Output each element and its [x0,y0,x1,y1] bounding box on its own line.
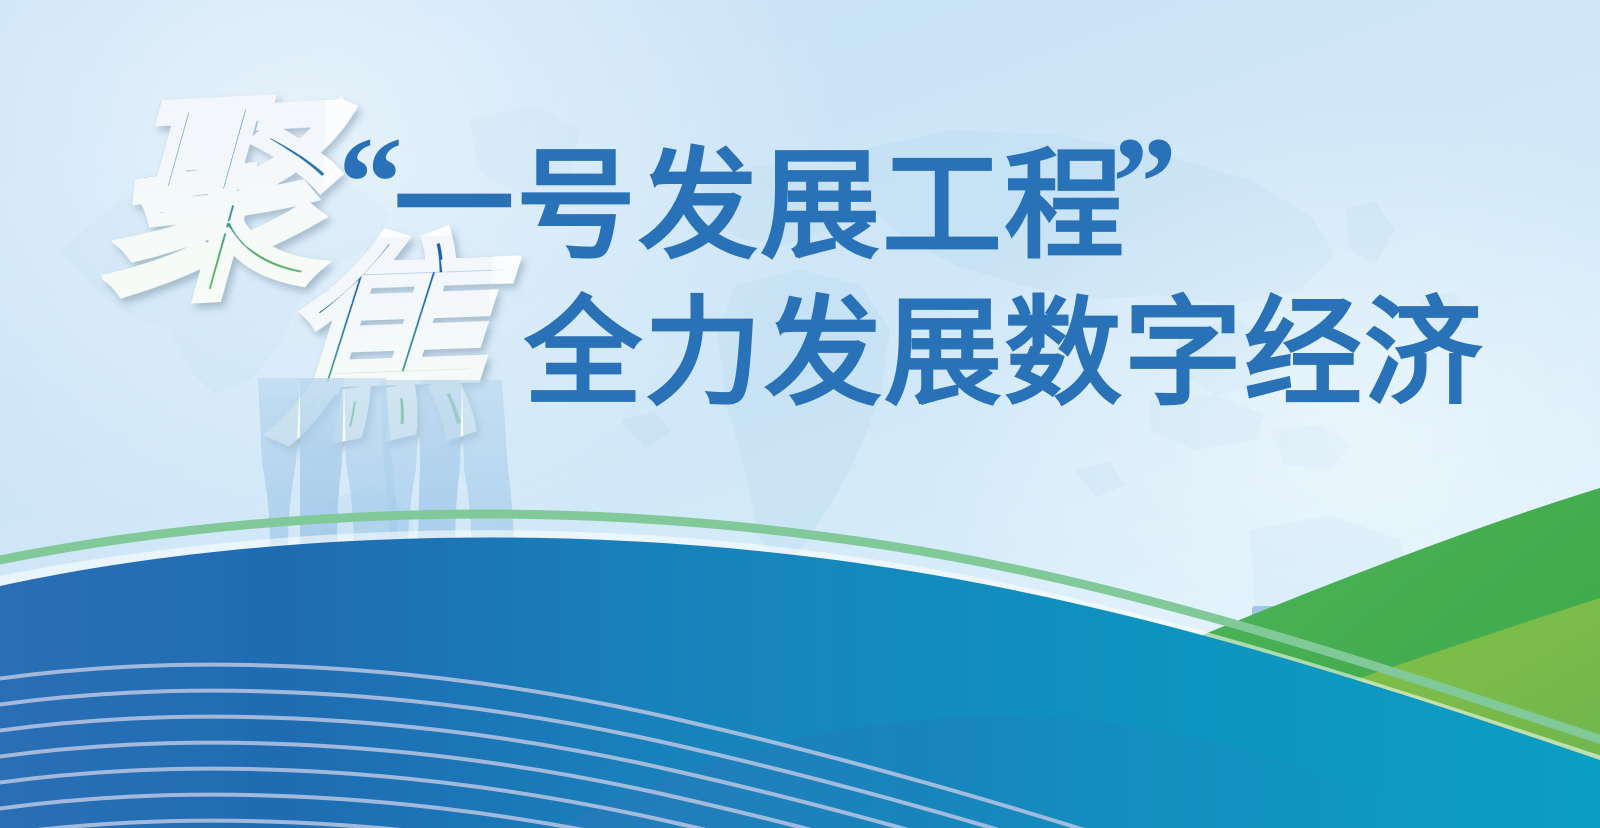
quote-open-mark: “ [338,118,403,248]
title-line-one: 一号发展工程 [394,146,1126,266]
quote-close-mark: ” [1112,118,1177,248]
scenery-group [0,368,1600,828]
calligraphy-char-ju: 聚 [104,90,326,317]
banner-root: 聚 焦 “ 一号发展工程 ” 全力发展数字经济 [0,0,1600,828]
